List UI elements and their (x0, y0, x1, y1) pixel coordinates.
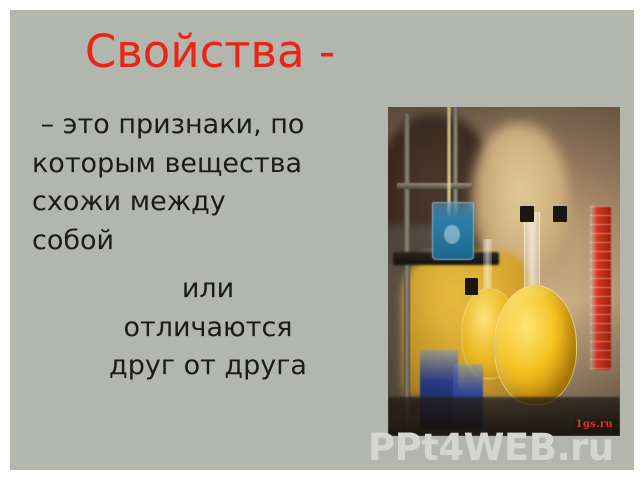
photo-vignette (388, 107, 620, 436)
body-line-2: которым вещества (32, 145, 384, 184)
body-line-1: – это признаки, по (32, 106, 384, 145)
body-spacer (32, 260, 384, 270)
site-watermark: PPt4WEB.ru (368, 428, 614, 468)
body-line-3: схожи между (32, 183, 384, 222)
page-title: Свойства - (10, 26, 410, 78)
body-line-7: друг от друга (32, 347, 384, 386)
photo-scene: 1gs.ru (388, 107, 620, 436)
slide-canvas: Свойства - – это признаки, по которым ве… (10, 10, 634, 470)
slide-body-text: – это признаки, по которым вещества схож… (32, 106, 384, 386)
body-line-5: или (32, 270, 384, 309)
chemistry-lab-photo: 1gs.ru (388, 107, 620, 436)
body-line-4: собой (32, 222, 384, 261)
body-line-6: отличаются (32, 309, 384, 348)
